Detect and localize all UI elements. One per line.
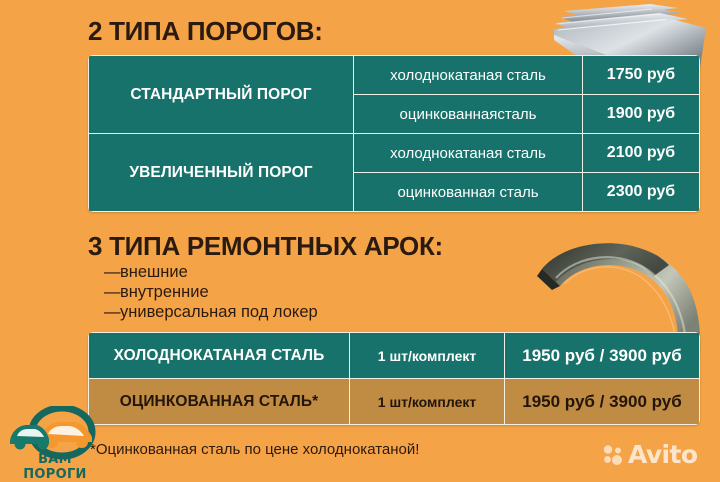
page-title-arches: 3 ТИПА РЕМОНТНЫХ АРОК: <box>88 231 443 262</box>
sill-material: оцинкованная сталь <box>354 173 583 212</box>
table-row: УВЕЛИЧЕННЫЙ ПОРОГ холоднокатаная сталь 2… <box>89 134 700 173</box>
logo-text: ВАМ ПОРОГИ <box>7 452 103 482</box>
sill-price: 2300 руб <box>583 173 700 212</box>
dash-bullet-icon: — <box>104 302 120 322</box>
list-item: —внешние <box>104 262 318 282</box>
arch-material-cold-rolled: ХОЛОДНОКАТАНАЯ СТАЛЬ <box>89 333 350 379</box>
sills-price-table: СТАНДАРТНЫЙ ПОРОГ холоднокатаная сталь 1… <box>88 55 700 212</box>
sill-price: 1900 руб <box>583 95 700 134</box>
arch-quantity: 1 шт/комплект <box>350 333 505 379</box>
arch-types-list: —внешние —внутренние —универсальная под … <box>104 262 318 322</box>
table-row: СТАНДАРТНЫЙ ПОРОГ холоднокатаная сталь 1… <box>89 56 700 95</box>
dash-bullet-icon: — <box>104 282 120 302</box>
avito-wordmark: Avito <box>628 442 697 467</box>
avito-watermark: Avito <box>602 442 697 467</box>
arch-price: 1950 руб / 3900 руб <box>505 379 700 425</box>
arch-type-label: внутренние <box>120 283 209 301</box>
table-row: ХОЛОДНОКАТАНАЯ СТАЛЬ 1 шт/комплект 1950 … <box>89 333 700 379</box>
arch-quantity: 1 шт/комплект <box>350 379 505 425</box>
arch-type-label: внешние <box>120 263 188 281</box>
list-item: —универсальная под локер <box>104 302 318 322</box>
arches-price-table: ХОЛОДНОКАТАНАЯ СТАЛЬ 1 шт/комплект 1950 … <box>88 332 700 425</box>
sill-material: холоднокатаная сталь <box>354 134 583 173</box>
table-row: ОЦИНКОВАННАЯ СТАЛЬ* 1 шт/комплект 1950 р… <box>89 379 700 425</box>
sill-material: оцинкованнаясталь <box>354 95 583 134</box>
page-title-sills: 2 ТИПА ПОРОГОВ: <box>88 16 323 47</box>
sill-price: 1750 руб <box>583 56 700 95</box>
footnote-text: *Оцинкованная сталь по цене холоднокатан… <box>90 441 419 458</box>
sill-type-standard: СТАНДАРТНЫЙ ПОРОГ <box>89 56 354 134</box>
promo-banner: 2 ТИПА ПОРОГОВ: СТАНДАРТНЫЙ ПОРОГ холодн… <box>0 0 720 479</box>
arch-price: 1950 руб / 3900 руб <box>505 333 700 379</box>
sill-type-extended: УВЕЛИЧЕННЫЙ ПОРОГ <box>89 134 354 212</box>
sill-price: 2100 руб <box>583 134 700 173</box>
dash-bullet-icon: — <box>104 262 120 282</box>
avito-dots-icon <box>602 444 624 466</box>
list-item: —внутренние <box>104 282 318 302</box>
arch-material-galvanized: ОЦИНКОВАННАЯ СТАЛЬ* <box>89 379 350 425</box>
arch-type-label: универсальная под локер <box>120 303 318 321</box>
sill-material: холоднокатаная сталь <box>354 56 583 95</box>
